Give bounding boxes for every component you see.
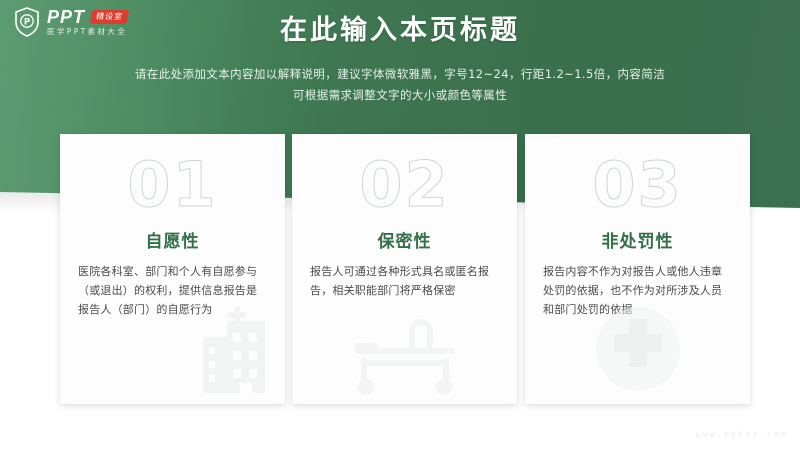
site-watermark: www.ppter.com — [695, 430, 788, 440]
card-body-text: 报告内容不作为对报告人或他人违章处罚的依据，也不作为对所涉及人员和部门处罚的依据 — [543, 262, 733, 319]
card-number: 03 — [525, 150, 750, 220]
slide-canvas: P PPT 精设室 医学PPT素材大全 在此输入本页标题 请在此处添加文本内容加… — [0, 0, 800, 450]
page-title: 在此输入本页标题 — [0, 14, 800, 48]
feature-card-01[interactable]: 01 自愿性 医院各科室、部门和个人有自愿参与（或退出）的权利，提供信息报告是报… — [60, 134, 285, 404]
card-heading: 保密性 — [292, 230, 517, 254]
feature-card-group: 01 自愿性 医院各科室、部门和个人有自愿参与（或退出）的权利，提供信息报告是报… — [60, 134, 750, 404]
card-body-text: 报告人可通过各种形式具名或匿名报告，相关职能部门将严格保密 — [310, 262, 500, 300]
feature-card-03[interactable]: 03 非处罚性 报告内容不作为对报告人或他人违章处罚的依据，也不作为对所涉及人员… — [525, 134, 750, 404]
subtitle-line-1: 请在此处添加文本内容加以解释说明，建议字体微软雅黑，字号12~24，行距1.2~… — [100, 64, 700, 85]
subtitle-line-2: 可根据需求调整文字的大小或颜色等属性 — [100, 85, 700, 106]
card-number: 02 — [292, 150, 517, 220]
card-number: 01 — [60, 150, 285, 220]
page-subtitle: 请在此处添加文本内容加以解释说明，建议字体微软雅黑，字号12~24，行距1.2~… — [100, 64, 700, 106]
hospital-building-icon — [197, 307, 271, 398]
card-heading: 自愿性 — [60, 230, 285, 254]
feature-card-02[interactable]: 02 保密性 报告人可通过各种形式具名或匿名报告，相关职能部门将严格保密 — [292, 134, 517, 404]
card-body-text: 医院各科室、部门和个人有自愿参与（或退出）的权利，提供信息报告是报告人（部门）的… — [78, 262, 268, 319]
card-heading: 非处罚性 — [525, 230, 750, 254]
hospital-bed-icon — [350, 317, 460, 400]
